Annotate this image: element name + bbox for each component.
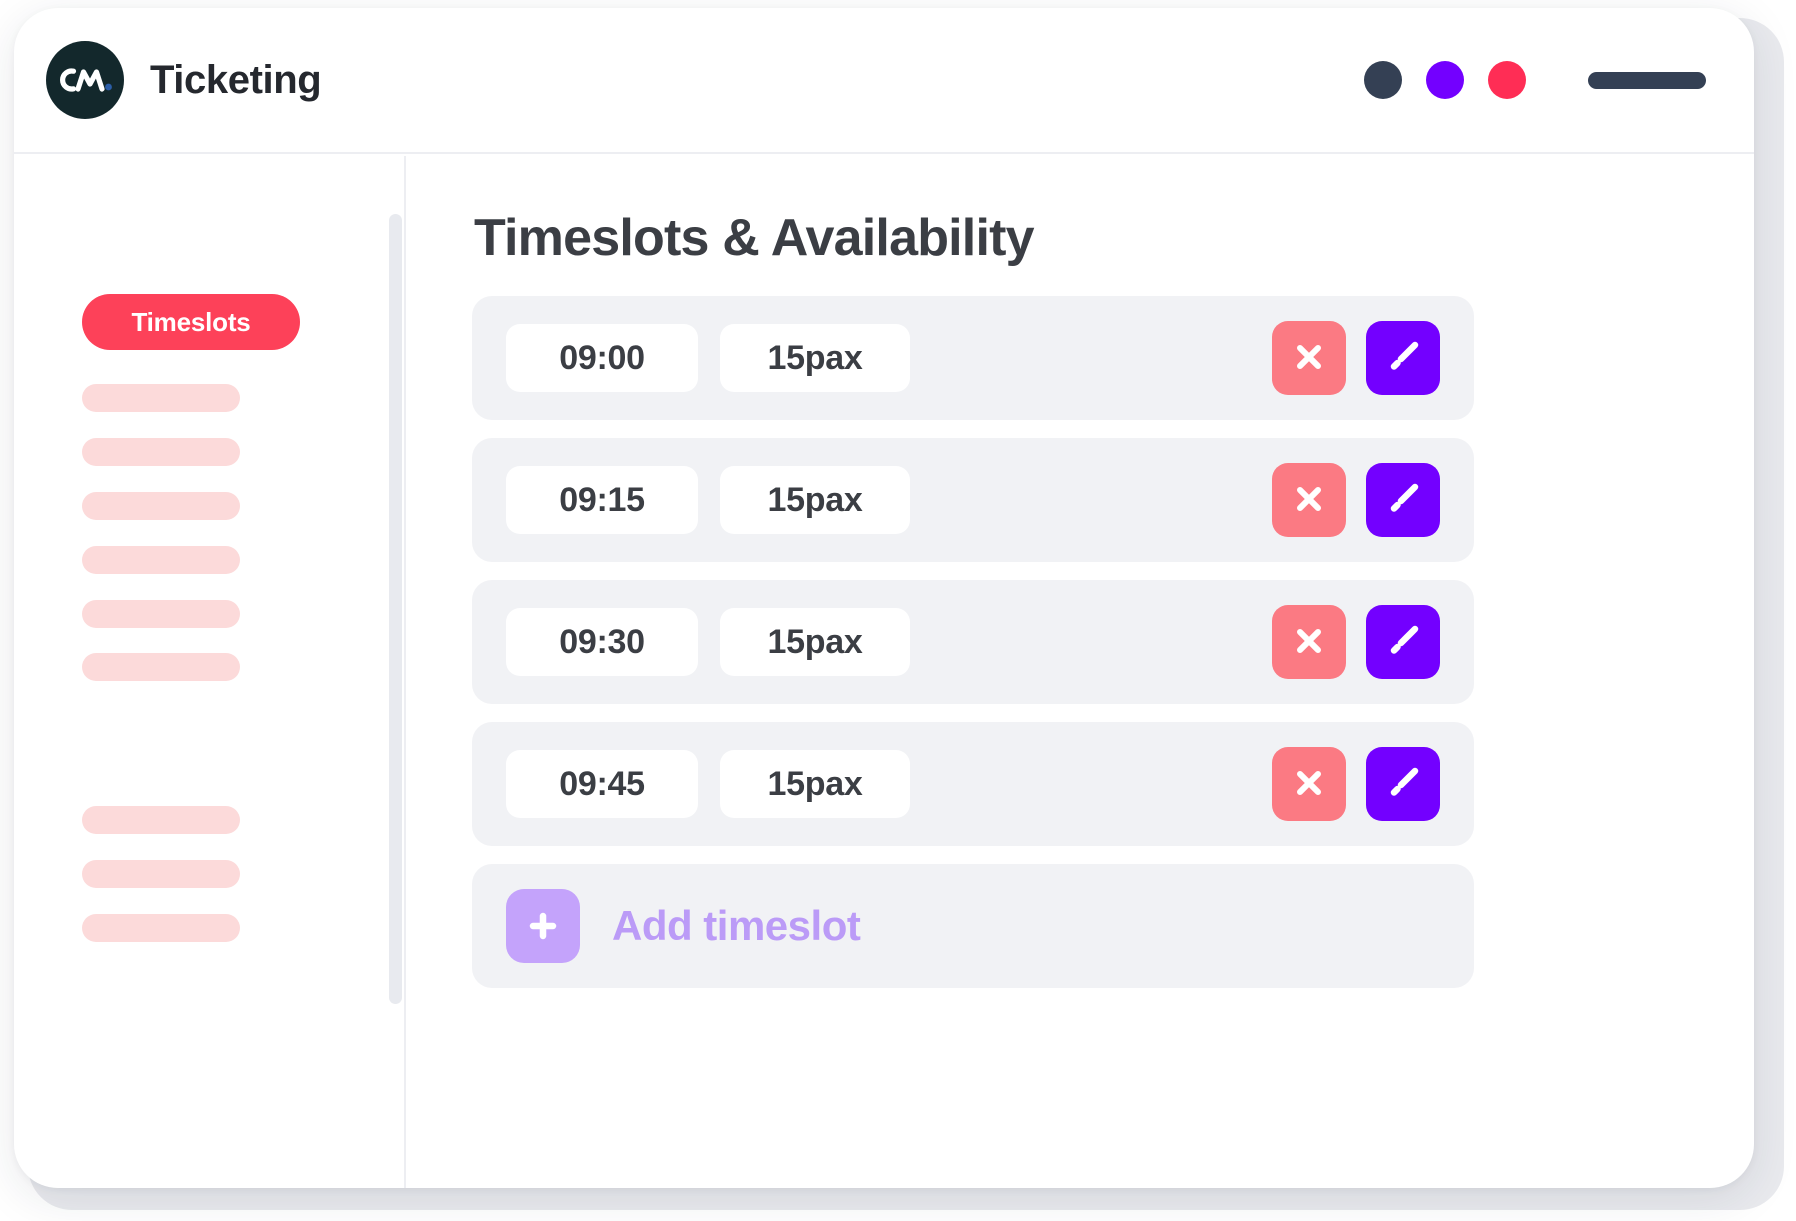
add-timeslot-button[interactable]: Add timeslot	[472, 864, 1474, 988]
sidebar-scrollbar[interactable]	[389, 214, 402, 1004]
timeslot-capacity-field[interactable]: 15pax	[720, 466, 910, 534]
timeslot-row[interactable]: 09:15 15pax	[472, 438, 1474, 562]
maximize-dot[interactable]	[1426, 61, 1464, 99]
app-window: Ticketing Timeslots	[14, 8, 1754, 1188]
sidebar-placeholder-bar	[82, 546, 240, 574]
delete-timeslot-button[interactable]	[1272, 321, 1346, 395]
minimize-dot[interactable]	[1364, 61, 1402, 99]
timeslot-capacity-field[interactable]: 15pax	[720, 608, 910, 676]
sidebar-placeholder-bar	[82, 860, 240, 888]
pencil-brush-icon	[1381, 619, 1425, 666]
sidebar-placeholder-bar	[82, 653, 240, 681]
delete-timeslot-button[interactable]	[1272, 747, 1346, 821]
window-controls	[1364, 61, 1706, 99]
brand-area: Ticketing	[46, 41, 321, 119]
plus-icon	[506, 889, 580, 963]
sidebar-placeholder-bar	[82, 384, 240, 412]
timeslot-row-actions	[1272, 747, 1440, 821]
main-content: Timeslots & Availability 09:00 15pax	[406, 156, 1754, 1188]
page-title: Timeslots & Availability	[474, 208, 1034, 268]
pencil-brush-icon	[1381, 477, 1425, 524]
timeslot-row[interactable]: 09:45 15pax	[472, 722, 1474, 846]
timeslot-time-field[interactable]: 09:30	[506, 608, 698, 676]
delete-timeslot-button[interactable]	[1272, 605, 1346, 679]
delete-timeslot-button[interactable]	[1272, 463, 1346, 537]
sidebar-placeholder-bar	[82, 492, 240, 520]
sidebar-placeholder-bar	[82, 600, 240, 628]
edit-timeslot-button[interactable]	[1366, 605, 1440, 679]
sidebar-placeholder-bar	[82, 914, 240, 942]
timeslot-row-actions	[1272, 605, 1440, 679]
timeslot-list: 09:00 15pax	[472, 296, 1474, 988]
sidebar-placeholder-bar	[82, 806, 240, 834]
sidebar-item-timeslots-label: Timeslots	[131, 307, 250, 338]
close-dot[interactable]	[1488, 61, 1526, 99]
timeslot-time-field[interactable]: 09:45	[506, 750, 698, 818]
timeslot-row[interactable]: 09:00 15pax	[472, 296, 1474, 420]
timeslot-capacity-field[interactable]: 15pax	[720, 750, 910, 818]
pencil-brush-icon	[1381, 335, 1425, 382]
window-body: Timeslots Timeslots & Availability 09:00	[14, 156, 1754, 1188]
close-x-icon	[1289, 479, 1329, 522]
edit-timeslot-button[interactable]	[1366, 321, 1440, 395]
timeslot-time-field[interactable]: 09:00	[506, 324, 698, 392]
menu-bar-indicator[interactable]	[1588, 72, 1706, 89]
sidebar-item-timeslots[interactable]: Timeslots	[82, 294, 300, 350]
timeslot-row-actions	[1272, 463, 1440, 537]
timeslot-row-actions	[1272, 321, 1440, 395]
timeslot-row[interactable]: 09:30 15pax	[472, 580, 1474, 704]
add-timeslot-label: Add timeslot	[612, 902, 860, 950]
title-bar: Ticketing	[14, 8, 1754, 154]
app-title: Ticketing	[150, 58, 321, 103]
sidebar: Timeslots	[14, 156, 406, 1188]
edit-timeslot-button[interactable]	[1366, 747, 1440, 821]
timeslot-capacity-field[interactable]: 15pax	[720, 324, 910, 392]
pencil-brush-icon	[1381, 761, 1425, 808]
close-x-icon	[1289, 621, 1329, 664]
close-x-icon	[1289, 763, 1329, 806]
timeslot-time-field[interactable]: 09:15	[506, 466, 698, 534]
close-x-icon	[1289, 337, 1329, 380]
sidebar-placeholder-bar	[82, 438, 240, 466]
cm-logo-icon	[46, 41, 124, 119]
edit-timeslot-button[interactable]	[1366, 463, 1440, 537]
